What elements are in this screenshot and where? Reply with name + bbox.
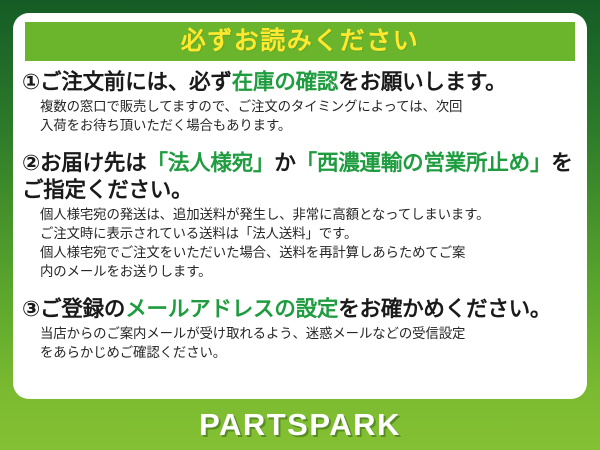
notice-item-2: ②お届け先は「法人様宛」か「西濃運輸の営業所止め」をご指定ください。 個人様宅宛… <box>13 150 587 281</box>
notice-item-1-subtext: 複数の窓口で販売してますので、ご注文のタイミングによっては、次回 入荷をお待ち頂… <box>22 97 579 135</box>
notice-item-2-subline-2: ご注文時に表示されている送料は「法人送料」です。 <box>40 224 579 243</box>
notice-item-1-subline-2: 入荷をお待ち頂いただく場合もあります。 <box>40 116 579 135</box>
notice-item-1-highlight: 在庫の確認 <box>232 70 339 94</box>
notice-list: ①ご注文前には、必ず在庫の確認をお願いします。 複数の窓口で販売してますので、ご… <box>13 69 587 362</box>
notice-item-1-head-part-2: をお願いします。 <box>338 70 506 94</box>
notice-item-3-subline-1: 当店からのご案内メールが受け取れるよう、迷惑メールなどの受信設定 <box>40 324 579 343</box>
header-title: 必ずお読みください <box>181 29 420 54</box>
notice-item-1-subline-1: 複数の窓口で販売してますので、ご注文のタイミングによっては、次回 <box>40 97 579 116</box>
white-content-card: 必ずお読みください ①ご注文前には、必ず在庫の確認をお願いします。 複数の窓口で… <box>13 13 587 399</box>
notice-item-1-heading: ①ご注文前には、必ず在庫の確認をお願いします。 <box>22 69 579 95</box>
notice-item-3-number: ③ <box>22 297 40 321</box>
notice-item-3-subline-2: をあらかじめご確認ください。 <box>40 343 579 362</box>
notice-item-3-heading: ③ご登録のメールアドレスの設定をお確かめください。 <box>22 296 579 322</box>
notice-item-3-head-part-2: をお確かめください。 <box>338 297 551 321</box>
header-band: 必ずお読みください <box>25 22 575 61</box>
notice-item-3-highlight: メールアドレスの設定 <box>125 297 338 321</box>
notice-item-2-head-part-1: お届け先は <box>40 151 147 175</box>
notice-item-2-number: ② <box>22 151 40 175</box>
notice-item-3: ③ご登録のメールアドレスの設定をお確かめください。 当店からのご案内メールが受け… <box>13 296 587 362</box>
notice-item-1-head-part-1: ご注文前には、必ず <box>40 70 232 94</box>
notice-item-1-number: ① <box>22 70 40 94</box>
partspark-logo: PARTSPARK <box>199 409 401 440</box>
notice-item-3-head-part-1: ご登録の <box>40 297 125 321</box>
notice-item-3-subtext: 当店からのご案内メールが受け取れるよう、迷惑メールなどの受信設定 をあらかじめご… <box>22 324 579 362</box>
notice-item-2-subline-3: 個人様宅宛でご注文をいただいた場合、送料を再計算しあらためてご案 <box>40 243 579 262</box>
notice-item-2-subtext: 個人様宅宛の発送は、追加送料が発生し、非常に高額となってしまいます。 ご注文時に… <box>22 205 579 281</box>
notice-item-2-highlight: 「法人様宛」 <box>147 151 275 175</box>
notice-item-2-highlight-2: 「西濃運輸の営業所止め」 <box>296 151 552 175</box>
promo-banner: 必ずお読みください ①ご注文前には、必ず在庫の確認をお願いします。 複数の窓口で… <box>0 0 600 450</box>
notice-item-2-subline-4: 内のメールをお送りします。 <box>40 262 579 281</box>
notice-item-1: ①ご注文前には、必ず在庫の確認をお願いします。 複数の窓口で販売してますので、ご… <box>13 69 587 135</box>
notice-item-2-heading: ②お届け先は「法人様宛」か「西濃運輸の営業所止め」をご指定ください。 <box>22 150 579 202</box>
footer: PARTSPARK <box>0 399 600 450</box>
notice-item-2-head-middle: か <box>274 151 295 175</box>
notice-item-2-subline-1: 個人様宅宛の発送は、追加送料が発生し、非常に高額となってしまいます。 <box>40 205 579 224</box>
